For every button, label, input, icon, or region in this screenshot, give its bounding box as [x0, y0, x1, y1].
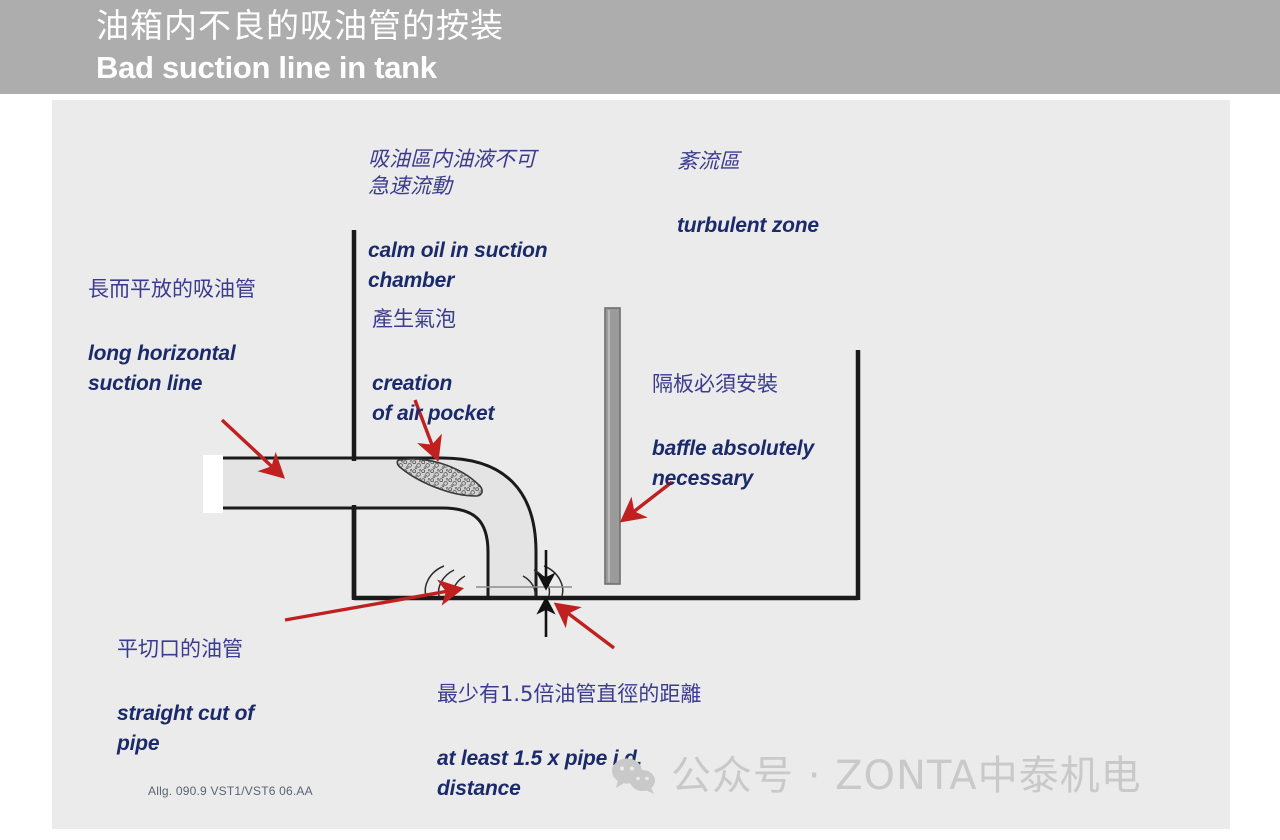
header-band: 油箱内不良的吸油管的按装 Bad suction line in tank [0, 0, 1280, 94]
pipe-left-end-cap [203, 455, 223, 513]
annotation-air-pocket: 產生氣泡 creation of air pocket [372, 270, 494, 465]
annotation-baffle-cn: 隔板必須安裝 [652, 371, 814, 398]
annotation-turbulent-zone-cn: 紊流區 [677, 148, 819, 175]
slide-root: 油箱内不良的吸油管的按装 Bad suction line in tank [0, 0, 1280, 829]
reference-code: Allg. 090.9 VST1/VST6 06.AA [148, 784, 313, 798]
annotation-baffle-en: baffle absolutely necessary [652, 434, 814, 494]
annotation-minimum-distance-en: at least 1.5 x pipe i.d. distance [437, 744, 701, 804]
arrow-to-distance [557, 605, 614, 648]
suction-pipe-inner-wall [203, 508, 488, 598]
arrow-to-pipe-cut [285, 589, 460, 620]
header-title-en: Bad suction line in tank [96, 50, 437, 86]
annotation-long-suction-line: 長而平放的吸油管 long horizontal suction line [88, 240, 256, 435]
annotation-calm-oil-cn: 吸油區内油液不可 急速流動 [368, 146, 547, 200]
annotation-long-suction-line-cn: 長而平放的吸油管 [88, 276, 256, 303]
annotation-straight-cut: 平切口的油管 straight cut of pipe [117, 600, 254, 795]
diagram-canvas: 吸油區内油液不可 急速流動 calm oil in suction chambe… [52, 100, 1230, 829]
baffle-plate [605, 308, 620, 584]
annotation-minimum-distance: 最少有1.5倍油管直徑的距離 at least 1.5 x pipe i.d. … [437, 645, 701, 840]
annotation-air-pocket-en: creation of air pocket [372, 369, 494, 429]
annotation-straight-cut-en: straight cut of pipe [117, 699, 254, 759]
diagram-canvas-inner: 吸油區内油液不可 急速流動 calm oil in suction chambe… [52, 100, 1230, 829]
annotation-turbulent-zone: 紊流區 turbulent zone [677, 112, 819, 277]
suction-pipe-fill [203, 458, 536, 598]
annotation-long-suction-line-en: long horizontal suction line [88, 339, 256, 399]
annotation-air-pocket-cn: 產生氣泡 [372, 306, 494, 333]
annotation-baffle: 隔板必須安裝 baffle absolutely necessary [652, 335, 814, 530]
wall-pipe-crossing [348, 461, 361, 505]
annotation-minimum-distance-cn: 最少有1.5倍油管直徑的距離 [437, 681, 701, 708]
annotation-turbulent-zone-en: turbulent zone [677, 211, 819, 241]
header-title-cn: 油箱内不良的吸油管的按装 [96, 6, 504, 46]
annotation-straight-cut-cn: 平切口的油管 [117, 636, 254, 663]
